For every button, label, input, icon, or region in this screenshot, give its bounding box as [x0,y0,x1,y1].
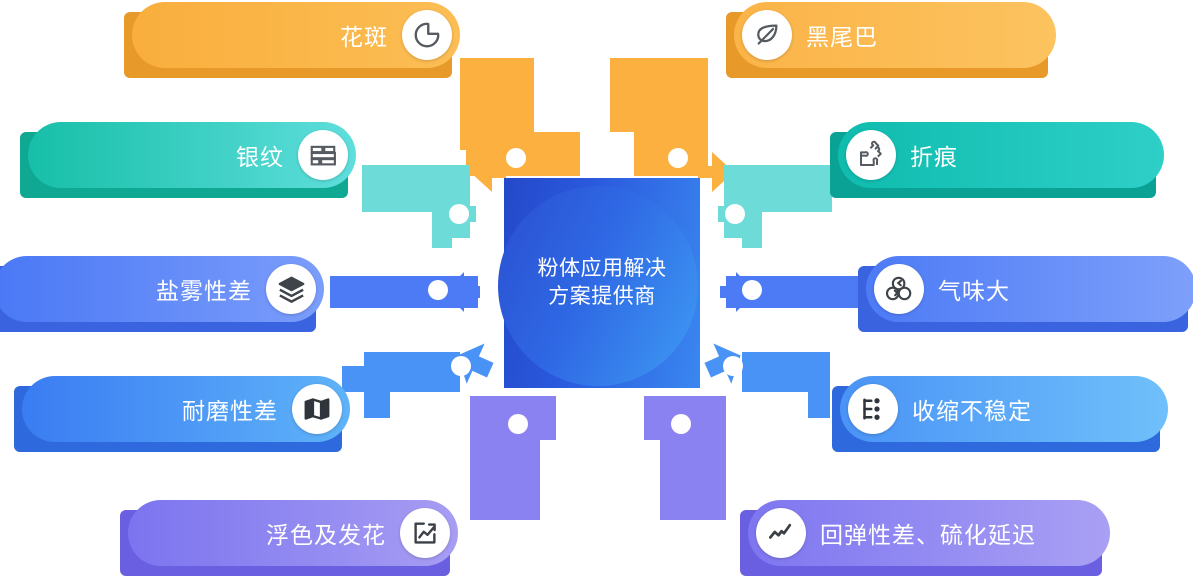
node-label: 黑尾巴 [806,18,878,52]
node-left-5[interactable]: 浮色及发花 [128,500,458,566]
recycle-icon [874,264,924,314]
leaf-icon [742,10,792,60]
hub-label-line2: 方案提供商 [548,283,656,311]
line-chart-icon [756,508,806,558]
connector-right-1 [588,58,734,192]
node-body: 折痕 [838,122,1164,188]
node-body: 收缩不稳定 [840,376,1168,442]
connector-right-3 [720,272,864,312]
connector-left-3 [330,272,480,312]
node-body: 耐磨性差 [22,376,350,442]
infographic-canvas: 粉体应用解决 方案提供商 花斑 银纹 [0,0,1193,577]
center-hub: 粉体应用解决 方案提供商 [504,178,700,388]
node-label: 折痕 [910,138,958,172]
node-body: 黑尾巴 [734,2,1056,68]
brick-wall-icon [298,130,348,180]
node-label: 浮色及发花 [266,516,386,550]
map-icon [292,384,342,434]
node-body: 银纹 [28,122,356,188]
node-left-3[interactable]: 盐雾性差 [0,256,324,322]
connector-left-4 [342,335,499,418]
node-left-2[interactable]: 银纹 [28,122,356,188]
node-label: 盐雾性差 [156,272,252,306]
node-right-5[interactable]: 回弹性差、硫化延迟 [748,500,1110,566]
connector-left-5 [470,396,556,520]
node-label: 气味大 [938,272,1010,306]
node-label: 银纹 [236,138,284,172]
node-body: 浮色及发花 [128,500,458,566]
node-body: 盐雾性差 [0,256,324,322]
pie-chart-icon [402,10,452,60]
node-right-4[interactable]: 收缩不稳定 [840,376,1168,442]
puzzle-icon [846,130,896,180]
connector-left-1 [460,58,580,192]
node-label: 耐磨性差 [182,392,278,426]
node-label: 回弹性差、硫化延迟 [820,516,1036,550]
node-left-1[interactable]: 花斑 [132,2,460,68]
node-right-3[interactable]: 气味大 [866,256,1193,322]
node-label: 收缩不稳定 [912,392,1032,426]
trending-up-box-icon [400,508,450,558]
node-body: 回弹性差、硫化延迟 [748,500,1110,566]
node-right-1[interactable]: 黑尾巴 [734,2,1056,68]
connector-right-4 [699,335,830,418]
connector-right-5 [644,396,726,520]
layers-icon [266,264,316,314]
connector-right-2 [718,165,832,248]
sitemap-icon [848,384,898,434]
node-right-2[interactable]: 折痕 [838,122,1164,188]
node-body: 气味大 [866,256,1193,322]
node-body: 花斑 [132,2,460,68]
node-label: 花斑 [340,18,388,52]
node-left-4[interactable]: 耐磨性差 [22,376,350,442]
hub-label-line1: 粉体应用解决 [538,255,667,283]
connector-left-2 [362,165,490,248]
hub-label: 粉体应用解决 方案提供商 [504,178,700,388]
